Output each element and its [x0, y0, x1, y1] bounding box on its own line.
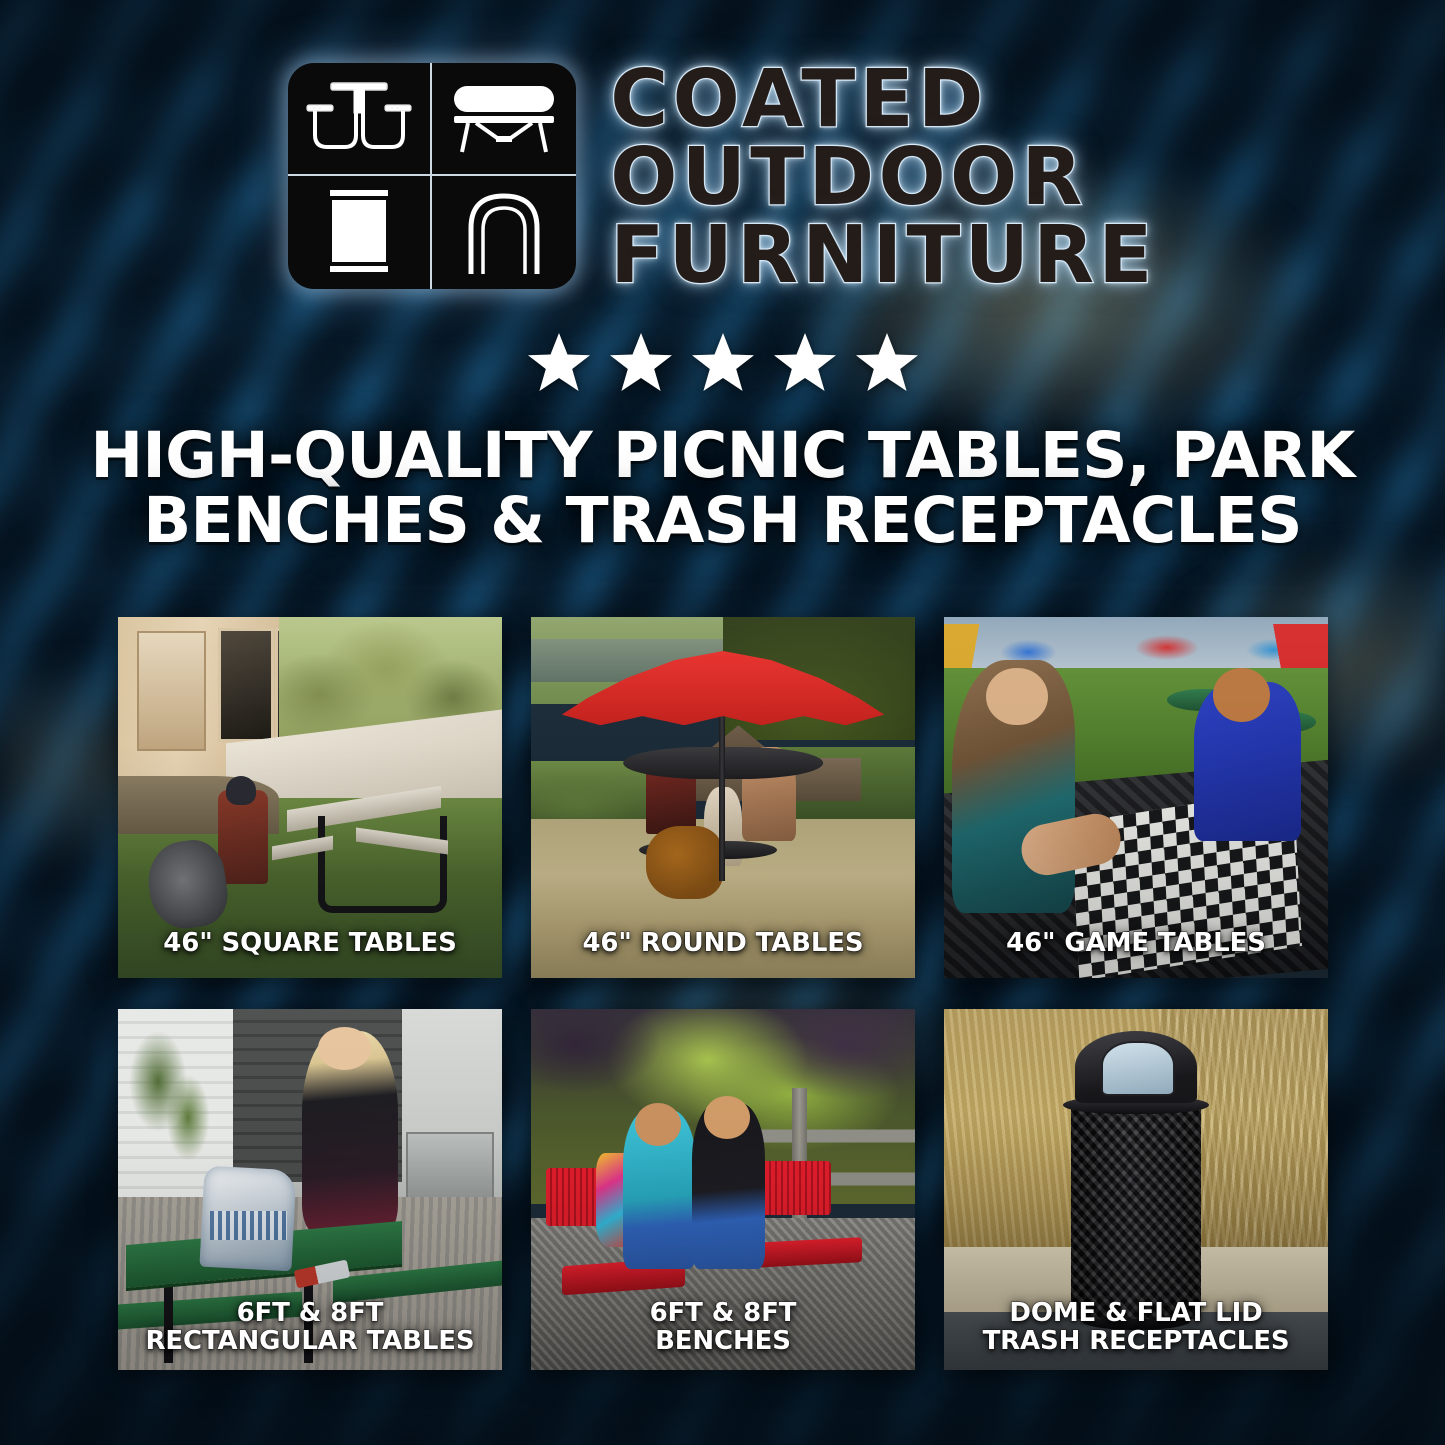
- product-photo-round-tables: [531, 617, 915, 978]
- product-tile-square-tables[interactable]: 46" SQUARE TABLES: [118, 617, 502, 978]
- product-tile-trash-receptacles[interactable]: DOME & FLAT LID TRASH RECEPTACLES: [944, 1009, 1328, 1370]
- caption-line-2: BENCHES: [531, 1328, 915, 1356]
- caption-line-1: 46" GAME TABLES: [944, 930, 1328, 958]
- product-caption: 46" GAME TABLES: [944, 930, 1328, 958]
- bike-rack-icon: [432, 176, 576, 289]
- furniture-quad-icon: [288, 63, 576, 289]
- brand-name-line-3: FURNITURE: [610, 218, 1156, 294]
- product-tile-round-tables[interactable]: 46" ROUND TABLES: [531, 617, 915, 978]
- product-caption: 6FT & 8FT BENCHES: [531, 1300, 915, 1356]
- bench-icon: [432, 63, 576, 176]
- star-icon: [855, 332, 919, 394]
- brand-logo: COATED OUTDOOR FURNITURE: [0, 58, 1445, 293]
- brand-wordmark: COATED OUTDOOR FURNITURE: [610, 58, 1156, 293]
- caption-line-1: 46" ROUND TABLES: [531, 930, 915, 958]
- rating-stars: [0, 332, 1445, 394]
- product-photo-square-tables: [118, 617, 502, 978]
- star-icon: [691, 332, 755, 394]
- product-caption: DOME & FLAT LID TRASH RECEPTACLES: [944, 1300, 1328, 1356]
- headline-line-2: BENCHES & TRASH RECEPTACLES: [60, 489, 1385, 554]
- brand-name-line-1: COATED: [610, 62, 1156, 138]
- caption-line-1: 6FT & 8FT: [118, 1300, 502, 1328]
- star-icon: [527, 332, 591, 394]
- product-caption: 46" ROUND TABLES: [531, 930, 915, 958]
- product-tile-benches[interactable]: 6FT & 8FT BENCHES: [531, 1009, 915, 1370]
- star-icon: [609, 332, 673, 394]
- product-caption: 46" SQUARE TABLES: [118, 930, 502, 958]
- product-photo-game-tables: [944, 617, 1328, 978]
- caption-line-2: RECTANGULAR TABLES: [118, 1328, 502, 1356]
- headline-line-1: HIGH-QUALITY PICNIC TABLES, PARK: [60, 424, 1385, 489]
- product-grid: 46" SQUARE TABLES 46" ROUND TABLES: [118, 617, 1328, 1370]
- caption-line-1: 46" SQUARE TABLES: [118, 930, 502, 958]
- product-tile-game-tables[interactable]: 46" GAME TABLES: [944, 617, 1328, 978]
- poster-content: COATED OUTDOOR FURNITURE HIGH-QUALITY PI…: [0, 0, 1445, 1445]
- brand-name-line-2: OUTDOOR: [610, 140, 1156, 216]
- page-title: HIGH-QUALITY PICNIC TABLES, PARK BENCHES…: [60, 424, 1385, 554]
- caption-line-1: DOME & FLAT LID: [944, 1300, 1328, 1328]
- product-tile-rectangular-tables[interactable]: 6FT & 8FT RECTANGULAR TABLES: [118, 1009, 502, 1370]
- caption-line-2: TRASH RECEPTACLES: [944, 1328, 1328, 1356]
- product-caption: 6FT & 8FT RECTANGULAR TABLES: [118, 1300, 502, 1356]
- caption-line-1: 6FT & 8FT: [531, 1300, 915, 1328]
- trash-receptacle-icon: [288, 176, 432, 289]
- star-icon: [773, 332, 837, 394]
- poster-canvas: COATED OUTDOOR FURNITURE HIGH-QUALITY PI…: [0, 0, 1445, 1445]
- picnic-table-icon: [288, 63, 432, 176]
